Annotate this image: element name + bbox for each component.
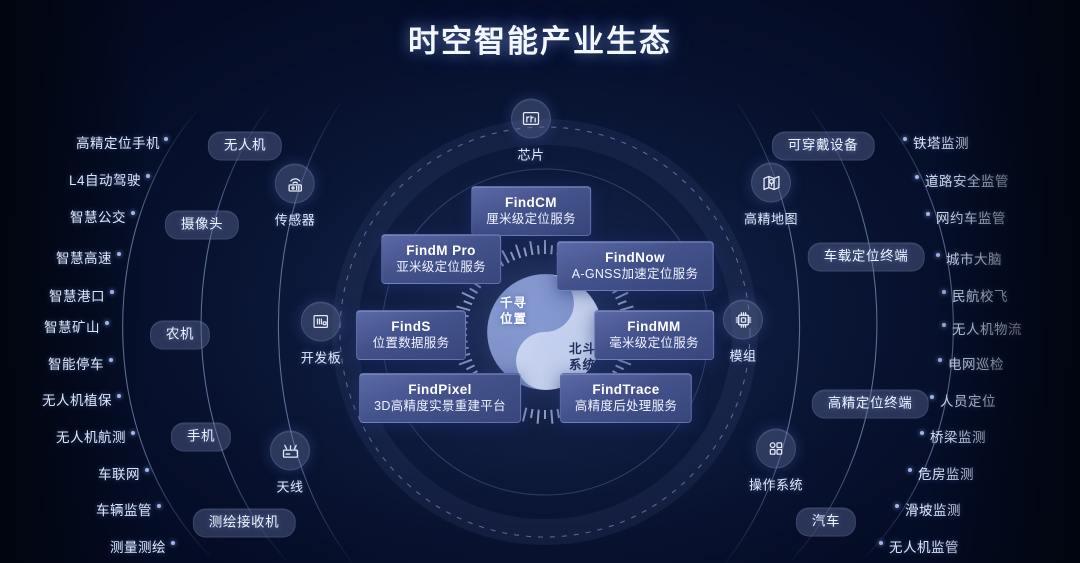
product-name: FindNow [572,249,699,266]
dev-board-icon [301,302,341,342]
icon-node-label: 天线 [276,477,303,496]
leaf-label-right-6[interactable]: 无人机物流 [952,322,1022,338]
leaf-label-right-1[interactable]: 铁塔监测 [913,136,969,152]
product-description: 位置数据服务 [371,335,451,351]
pill-3[interactable]: 农机 [150,321,210,350]
pill-4[interactable]: 手机 [171,423,231,452]
leaf-label-left-1[interactable]: 高精定位手机 [76,136,160,152]
pill-1[interactable]: 无人机 [208,132,282,161]
leaf-node-dot [145,468,149,472]
product-name: FindTrace [575,381,677,398]
icon-node-sensor[interactable]: 传感器 [275,164,316,229]
icon-node-label: 操作系统 [749,475,803,494]
leaf-node-dot [105,321,109,325]
product-box-finds[interactable]: FindS位置数据服务 [356,310,466,360]
leaf-label-right-4[interactable]: 城市大脑 [946,252,1002,268]
product-box-findcm[interactable]: FindCM厘米级定位服务 [471,186,591,236]
pill-5[interactable]: 测绘接收机 [193,509,296,538]
pill-7[interactable]: 车载定位终端 [808,243,925,272]
product-name: FindPixel [374,381,506,398]
product-description: 3D高精度实景重建平台 [374,398,506,414]
icon-node-antenna[interactable]: 天线 [270,431,310,496]
pill-2[interactable]: 摄像头 [165,211,239,240]
cpu-chip-icon [723,300,763,340]
leaf-node-dot [895,504,899,508]
leaf-label-left-5[interactable]: 智慧港口 [49,289,105,305]
icon-node-cpu-chip[interactable]: 模组 [723,300,763,365]
leaf-label-left-8[interactable]: 无人机植保 [42,393,112,409]
leaf-label-left-12[interactable]: 测量测绘 [110,540,166,556]
leaf-node-dot [920,431,924,435]
leaf-label-left-10[interactable]: 车联网 [98,467,140,483]
leaf-node-dot [879,541,883,545]
leaf-label-left-7[interactable]: 智能停车 [48,357,104,373]
pill-6[interactable]: 可穿戴设备 [772,132,875,161]
product-name: FindS [371,318,451,335]
product-box-findnow[interactable]: FindNowA-GNSS加速定位服务 [557,241,714,291]
product-description: 毫米级定位服务 [609,335,699,351]
leaf-node-dot [936,253,940,257]
product-name: FindM Pro [396,242,486,259]
leaf-label-right-8[interactable]: 人员定位 [940,394,996,410]
leaf-label-left-9[interactable]: 无人机航测 [56,430,126,446]
infographic-canvas: 时空智能产业生态 千寻位置 北斗系统 FindCM厘米级定位服务FindM Pr… [0,0,1080,563]
leaf-node-dot [942,290,946,294]
icon-node-label: 开发板 [301,348,342,367]
leaf-label-left-6[interactable]: 智慧矿山 [44,320,100,336]
chip-panel-icon [511,99,551,139]
leaf-label-right-7[interactable]: 电网巡检 [948,357,1004,373]
core-label-qianxun: 千寻位置 [500,295,527,327]
sensor-icon [275,164,315,204]
leaf-node-dot [926,212,930,216]
leaf-node-dot [117,394,121,398]
leaf-label-right-5[interactable]: 民航校飞 [952,289,1008,305]
leaf-label-right-12[interactable]: 无人机监管 [889,540,959,556]
page-title: 时空智能产业生态 [0,22,1080,62]
leaf-node-dot [903,137,907,141]
leaf-label-right-10[interactable]: 危房监测 [918,467,974,483]
leaf-label-right-3[interactable]: 网约车监管 [936,211,1006,227]
pill-8[interactable]: 高精定位终端 [812,390,929,419]
antenna-icon [270,431,310,471]
product-description: 亚米级定位服务 [396,259,486,275]
leaf-label-left-2[interactable]: L4自动驾驶 [69,173,141,189]
core-label-beidou: 北斗系统 [569,341,596,373]
leaf-node-dot [146,174,150,178]
leaf-node-dot [930,395,934,399]
pill-9[interactable]: 汽车 [796,508,856,537]
icon-node-label: 传感器 [275,210,316,229]
leaf-label-left-11[interactable]: 车辆监管 [96,503,152,519]
product-box-findtrace[interactable]: FindTrace高精度后处理服务 [560,373,692,423]
product-box-findmm[interactable]: FindMM毫米级定位服务 [594,310,714,360]
leaf-node-dot [938,358,942,362]
icon-node-map-pin[interactable]: 高精地图 [744,163,798,228]
leaf-node-dot [109,358,113,362]
leaf-node-dot [117,252,121,256]
icon-node-chip-panel[interactable]: 芯片 [511,99,551,164]
leaf-label-right-11[interactable]: 滑坡监测 [905,503,961,519]
product-box-findm-pro[interactable]: FindM Pro亚米级定位服务 [381,234,501,284]
icon-node-os-grid[interactable]: 操作系统 [749,429,803,494]
product-name: FindMM [609,318,699,335]
leaf-label-left-3[interactable]: 智慧公交 [70,210,126,226]
os-grid-icon [756,429,796,469]
leaf-node-dot [171,541,175,545]
leaf-label-left-4[interactable]: 智慧高速 [56,251,112,267]
product-description: 高精度后处理服务 [575,398,677,414]
icon-node-label: 高精地图 [744,209,798,228]
leaf-label-right-2[interactable]: 道路安全监管 [925,174,1009,190]
leaf-node-dot [157,504,161,508]
leaf-node-dot [164,137,168,141]
product-name: FindCM [486,194,576,211]
leaf-node-dot [942,323,946,327]
leaf-node-dot [110,290,114,294]
map-pin-icon [751,163,791,203]
icon-node-label: 芯片 [517,145,544,164]
leaf-node-dot [131,431,135,435]
product-box-findpixel[interactable]: FindPixel3D高精度实景重建平台 [359,373,521,423]
leaf-label-right-9[interactable]: 桥梁监测 [930,430,986,446]
icon-node-dev-board[interactable]: 开发板 [301,302,342,367]
leaf-node-dot [908,468,912,472]
leaf-node-dot [131,211,135,215]
product-description: A-GNSS加速定位服务 [572,266,699,282]
icon-node-label: 模组 [729,346,756,365]
product-description: 厘米级定位服务 [486,211,576,227]
leaf-node-dot [915,175,919,179]
